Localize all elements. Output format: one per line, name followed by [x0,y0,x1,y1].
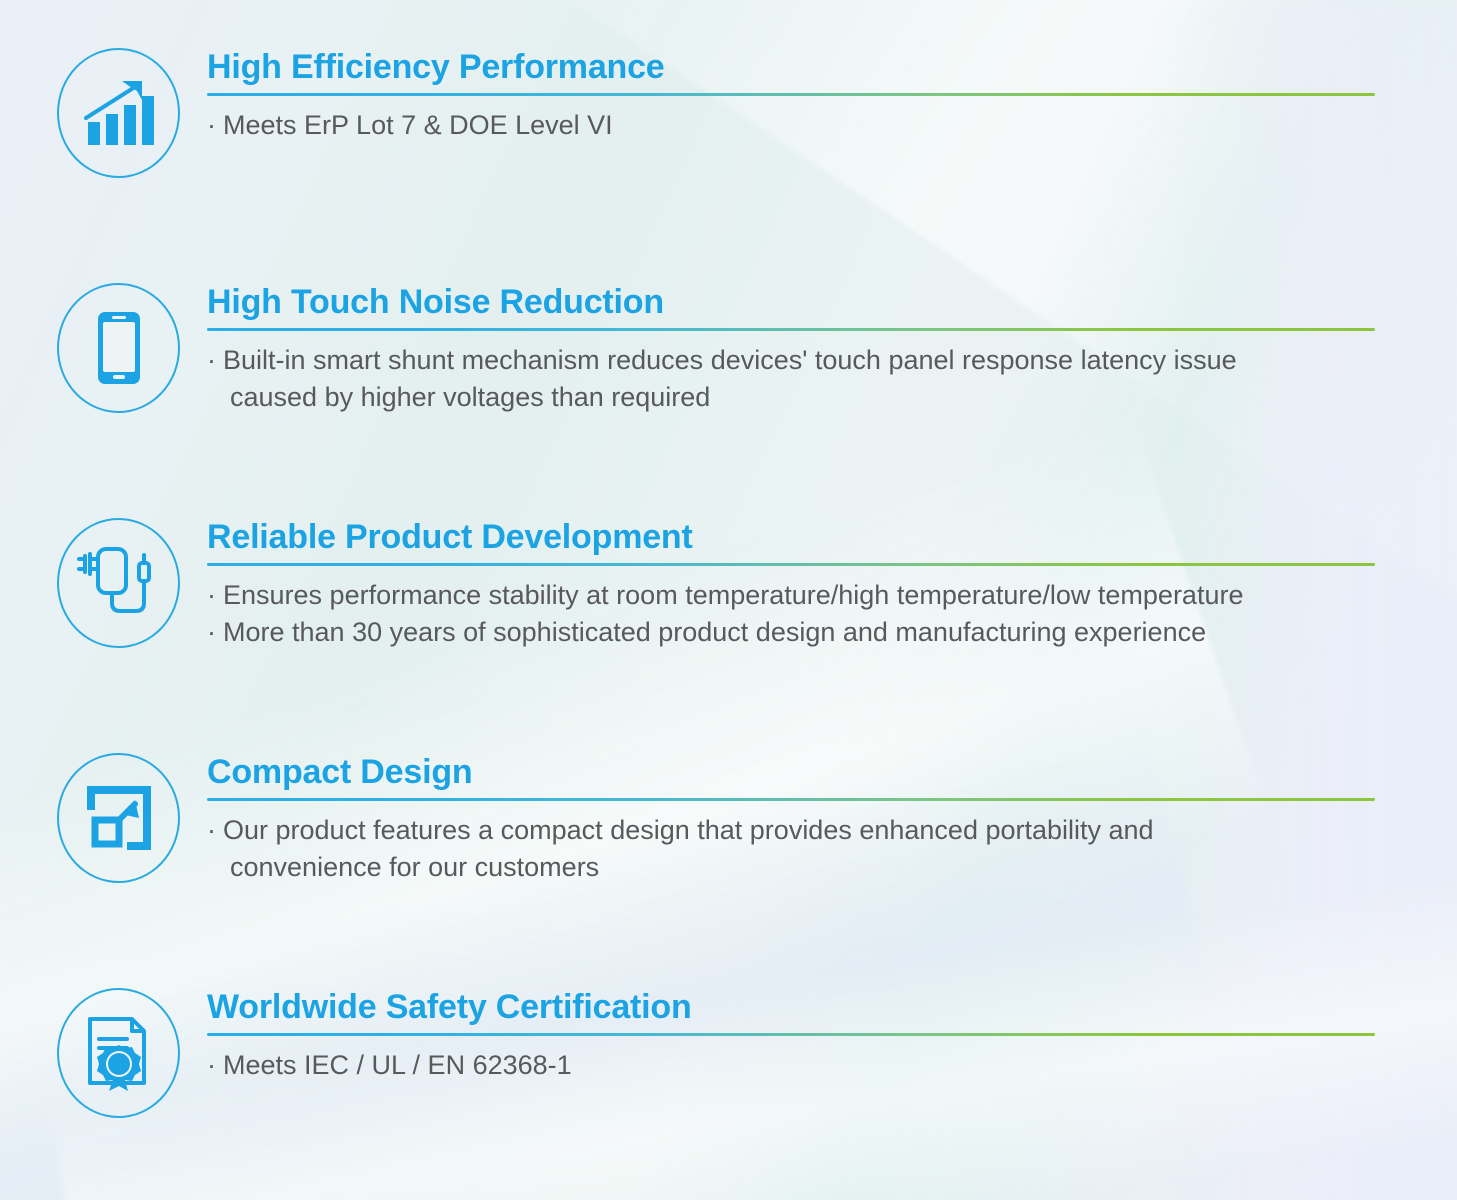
bullet-item: ·Built-in smart shunt mechanism reduces … [207,342,1387,379]
bullet-marker: · [207,815,216,845]
bullet-item: ·Meets ErP Lot 7 & DOE Level VI [207,107,1387,144]
feature-title: Reliable Product Development [207,518,1387,556]
bullet-marker: · [207,617,216,647]
feature-icon-wrapper [57,988,180,1118]
feature-divider [207,328,1375,331]
bullet-item: ·More than 30 years of sophisticated pro… [207,614,1387,651]
bullet-text-continuation: caused by higher voltages than required [207,379,1387,416]
feature-bullet-list: ·Meets IEC / UL / EN 62368-1 [207,1047,1387,1084]
bullet-item: ·Meets IEC / UL / EN 62368-1 [207,1047,1387,1084]
infographic-page: High Efficiency Performance ·Meets ErP L… [0,0,1457,1200]
bullet-marker: · [207,1050,216,1080]
certificate-award-icon [57,988,180,1118]
feature-divider [207,1033,1375,1036]
feature-icon-wrapper [57,518,180,648]
feature-icon-wrapper [57,753,180,883]
bullet-text: Ensures performance stability at room te… [223,580,1243,610]
bar-chart-growth-icon [57,48,180,178]
bullet-text: Meets ErP Lot 7 & DOE Level VI [223,110,613,140]
bullet-item: ·Ensures performance stability at room t… [207,577,1387,614]
bullet-marker: · [207,580,216,610]
feature-text-column: Reliable Product Development ·Ensures pe… [207,518,1387,651]
bullet-text-continuation: convenience for our customers [207,849,1387,886]
bullet-item: ·Our product features a compact design t… [207,812,1387,849]
bullet-text: Our product features a compact design th… [223,815,1154,845]
feature-text-column: Worldwide Safety Certification ·Meets IE… [207,988,1387,1084]
feature-icon-wrapper [57,48,180,178]
smartphone-icon [57,283,180,413]
bullet-text: More than 30 years of sophisticated prod… [223,617,1206,647]
feature-title: Worldwide Safety Certification [207,988,1387,1026]
feature-divider [207,93,1375,96]
feature-bullet-list: ·Meets ErP Lot 7 & DOE Level VI [207,107,1387,144]
feature-title: High Efficiency Performance [207,48,1387,86]
bullet-text: Meets IEC / UL / EN 62368-1 [223,1050,572,1080]
feature-text-column: High Touch Noise Reduction ·Built-in sma… [207,283,1387,416]
bullet-marker: · [207,110,216,140]
feature-divider [207,798,1375,801]
feature-text-column: Compact Design ·Our product features a c… [207,753,1387,886]
feature-title: Compact Design [207,753,1387,791]
compact-resize-icon [57,753,180,883]
feature-title: High Touch Noise Reduction [207,283,1387,321]
feature-bullet-list: ·Our product features a compact design t… [207,812,1387,886]
bullet-marker: · [207,345,216,375]
feature-bullet-list: ·Ensures performance stability at room t… [207,577,1387,651]
feature-divider [207,563,1375,566]
feature-bullet-list: ·Built-in smart shunt mechanism reduces … [207,342,1387,416]
bullet-text: Built-in smart shunt mechanism reduces d… [223,345,1237,375]
feature-icon-wrapper [57,283,180,413]
feature-text-column: High Efficiency Performance ·Meets ErP L… [207,48,1387,144]
power-adapter-icon [57,518,180,648]
